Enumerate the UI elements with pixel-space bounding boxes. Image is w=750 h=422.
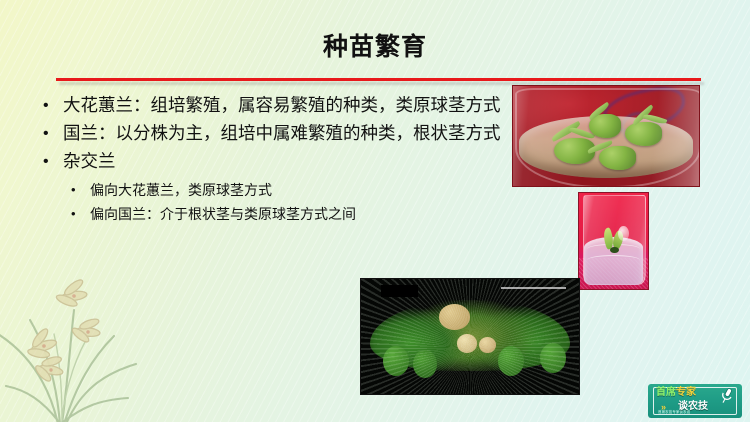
sub-bullet-marker: •: [71, 178, 76, 202]
bullet-list: • 大花蕙兰：组培繁殖，属容易繁殖的种类，类原球茎方式 • 国兰：以分株为主，组…: [38, 92, 510, 226]
jar-bubble-highlight: [618, 226, 629, 241]
title-rule: [56, 78, 701, 81]
sub-bullet-text: 偏向国兰：介于根状茎与类原球茎方式之间: [90, 206, 356, 222]
image-petri-dish-plantlets: [512, 85, 700, 187]
jar-ripple: [587, 255, 639, 266]
logo-line-1: 首席专家: [656, 386, 696, 400]
bullet-text: 国兰：以分株为主，组培中属难繁殖的种类，根状茎方式: [63, 123, 501, 143]
orchid-illustration: [0, 248, 146, 422]
protocorm-scale-bar: [501, 287, 566, 289]
image-protocorm-macro: [360, 278, 580, 395]
sub-bullet-list: • 偏向大花蕙兰，类原球茎方式 • 偏向国兰：介于根状茎与类原球茎方式之间: [38, 178, 510, 226]
slide-title: 种苗繁育: [0, 28, 750, 66]
bullet-item: • 国兰：以分株为主，组培中属难繁殖的种类，根状茎方式: [38, 120, 510, 147]
bullet-item: • 大花蕙兰：组培繁殖，属容易繁殖的种类，类原球茎方式: [38, 92, 510, 119]
sub-bullet-marker: •: [71, 202, 76, 226]
sub-bullet-item: • 偏向大花蕙兰，类原球茎方式: [38, 178, 510, 202]
logo-text-part-1: 首席: [656, 387, 676, 398]
microphone-icon: [715, 386, 737, 408]
dish-glass-highlight: [513, 86, 699, 186]
presentation-slide: 种苗繁育 • 大花蕙兰：组培繁殖，属容易繁殖的种类，类原球茎方式 • 国兰：以分…: [0, 0, 750, 422]
bullet-marker: •: [43, 148, 49, 175]
bullet-marker: •: [43, 120, 49, 147]
sub-bullet-item: • 偏向国兰：介于根状茎与类原球茎方式之间: [38, 202, 510, 226]
protocorm-label-patch: [381, 285, 418, 298]
image-glass-jar-seedling: [578, 192, 649, 290]
logo-text-part-2: 专家: [676, 387, 696, 398]
bullet-item: • 杂交兰: [38, 148, 510, 175]
bullet-marker: •: [43, 92, 49, 119]
sub-bullet-text: 偏向大花蕙兰，类原球茎方式: [90, 182, 272, 198]
logo-line-2: 谈农技: [678, 400, 708, 414]
program-logo: 首席专家 » 首席农技专家谈农技 谈农技: [648, 384, 742, 418]
bullet-text: 大花蕙兰：组培繁殖，属容易繁殖的种类，类原球茎方式: [63, 95, 501, 115]
bullet-text: 杂交兰: [63, 151, 116, 171]
